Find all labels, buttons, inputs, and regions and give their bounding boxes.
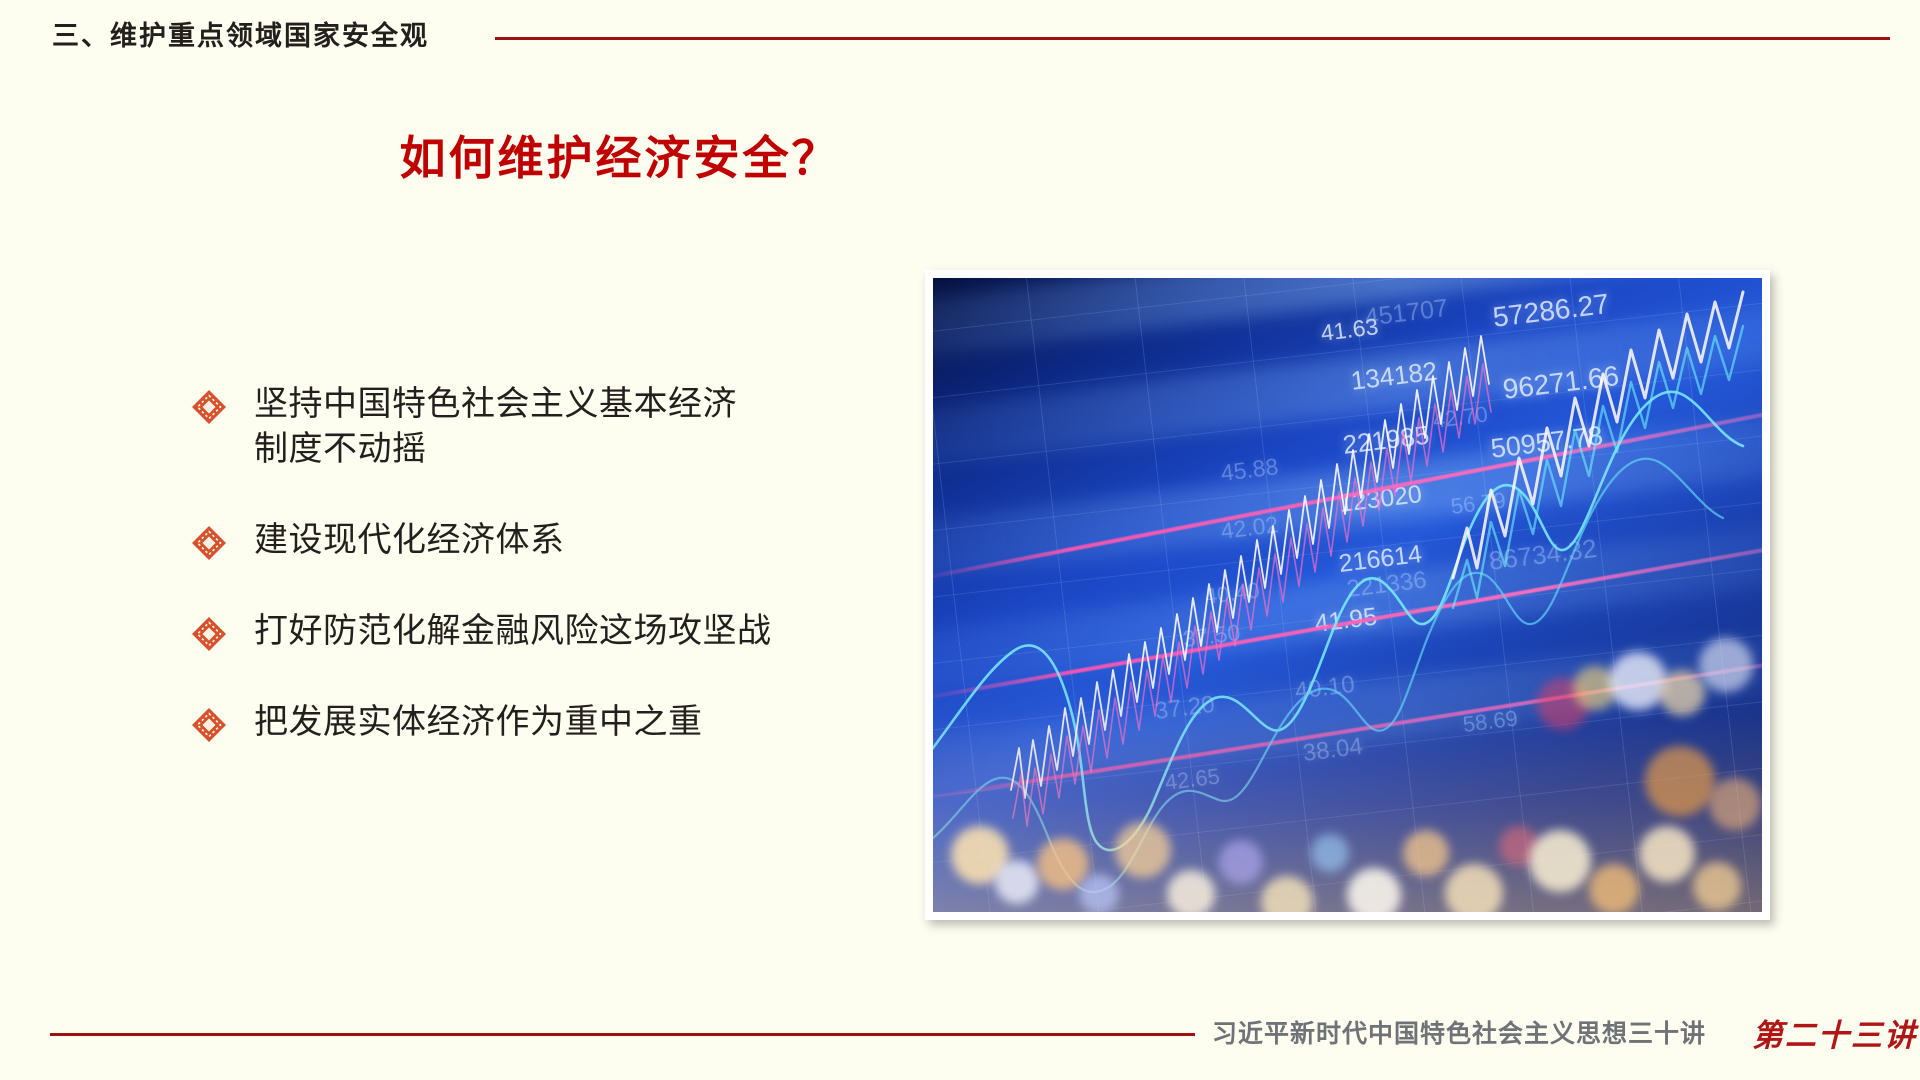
list-item: 打好防范化解金融风险这场攻坚战	[190, 609, 920, 654]
diamond-bullet-icon	[190, 706, 228, 744]
list-item-label: 把发展实体经济作为重中之重	[254, 700, 703, 745]
footer-divider-rule	[50, 1033, 1195, 1036]
diamond-bullet-icon	[190, 388, 228, 426]
list-item-label: 坚持中国特色社会主义基本经济 制度不动摇	[254, 382, 737, 472]
slide-footer: 习近平新时代中国特色社会主义思想三十讲 第二十三讲	[0, 1000, 1920, 1080]
list-item-label: 建设现代化经济体系	[254, 518, 565, 563]
footer-lecture-label: 第二十三讲	[1752, 1010, 1917, 1055]
header-divider-rule	[495, 37, 1890, 40]
stock-market-photo: 41.63 57286.27 451707 134182 96271.66 42…	[933, 278, 1762, 912]
section-title: 三、维护重点领域国家安全观	[52, 14, 429, 53]
slide-header: 三、维护重点领域国家安全观	[0, 0, 1920, 62]
footer-series-title: 习近平新时代中国特色社会主义思想三十讲	[1212, 1014, 1706, 1050]
diamond-bullet-icon	[190, 615, 228, 653]
list-item-label: 打好防范化解金融风险这场攻坚战	[254, 609, 772, 654]
list-item: 坚持中国特色社会主义基本经济 制度不动摇	[190, 382, 920, 472]
list-item: 建设现代化经济体系	[190, 518, 920, 563]
diamond-bullet-icon	[190, 524, 228, 562]
bullet-list: 坚持中国特色社会主义基本经济 制度不动摇 建设现代化经济体系 打好防范化解金融风…	[190, 382, 920, 790]
slide-main-title: 如何维护经济安全？	[0, 122, 1240, 188]
stock-market-photo-frame: 41.63 57286.27 451707 134182 96271.66 42…	[925, 270, 1770, 920]
list-item: 把发展实体经济作为重中之重	[190, 700, 920, 745]
